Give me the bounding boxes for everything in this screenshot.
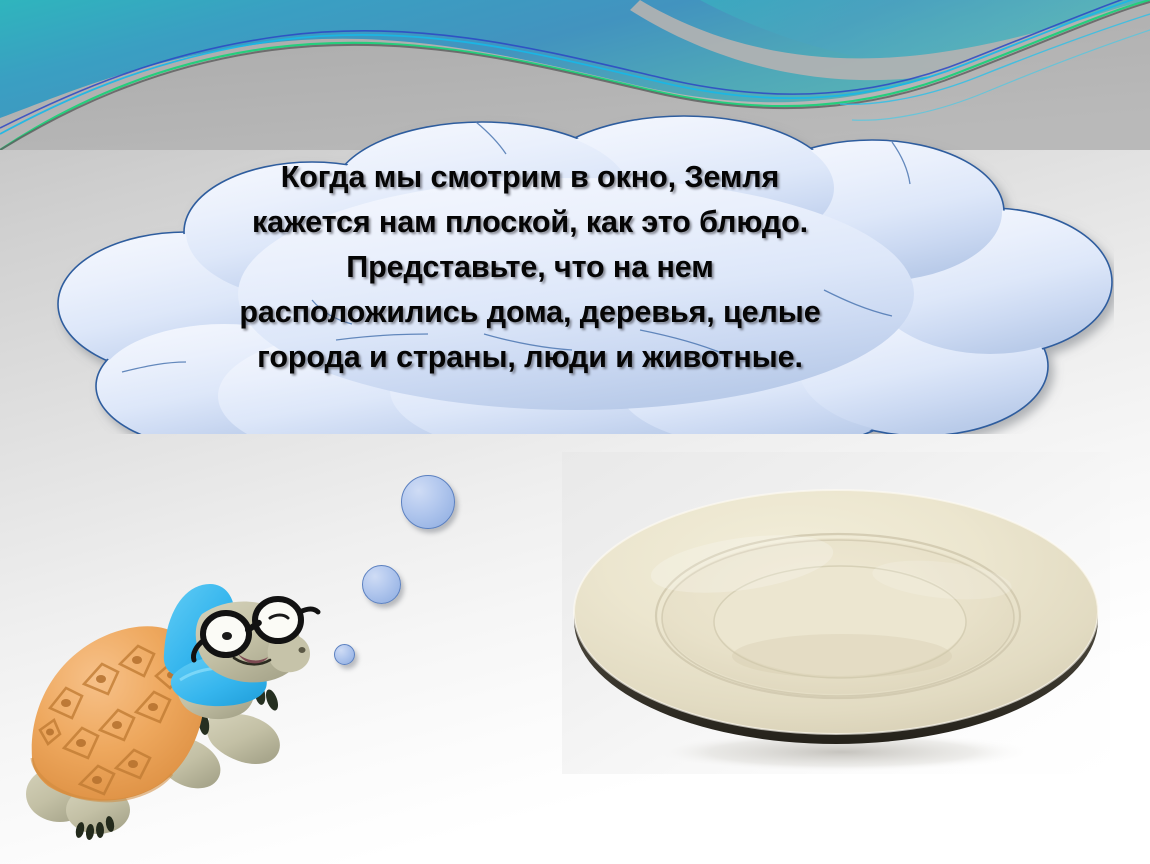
presentation-slide: Когда мы смотрим в окно, Земля кажется н…	[0, 0, 1150, 864]
ceramic-plate-photo	[562, 452, 1110, 774]
thought-bubble-large	[401, 475, 455, 529]
turtle-character-illustration	[14, 562, 326, 854]
thought-bubble-medium	[362, 565, 401, 604]
thought-bubble-small	[334, 644, 355, 665]
thought-cloud	[36, 104, 1114, 434]
